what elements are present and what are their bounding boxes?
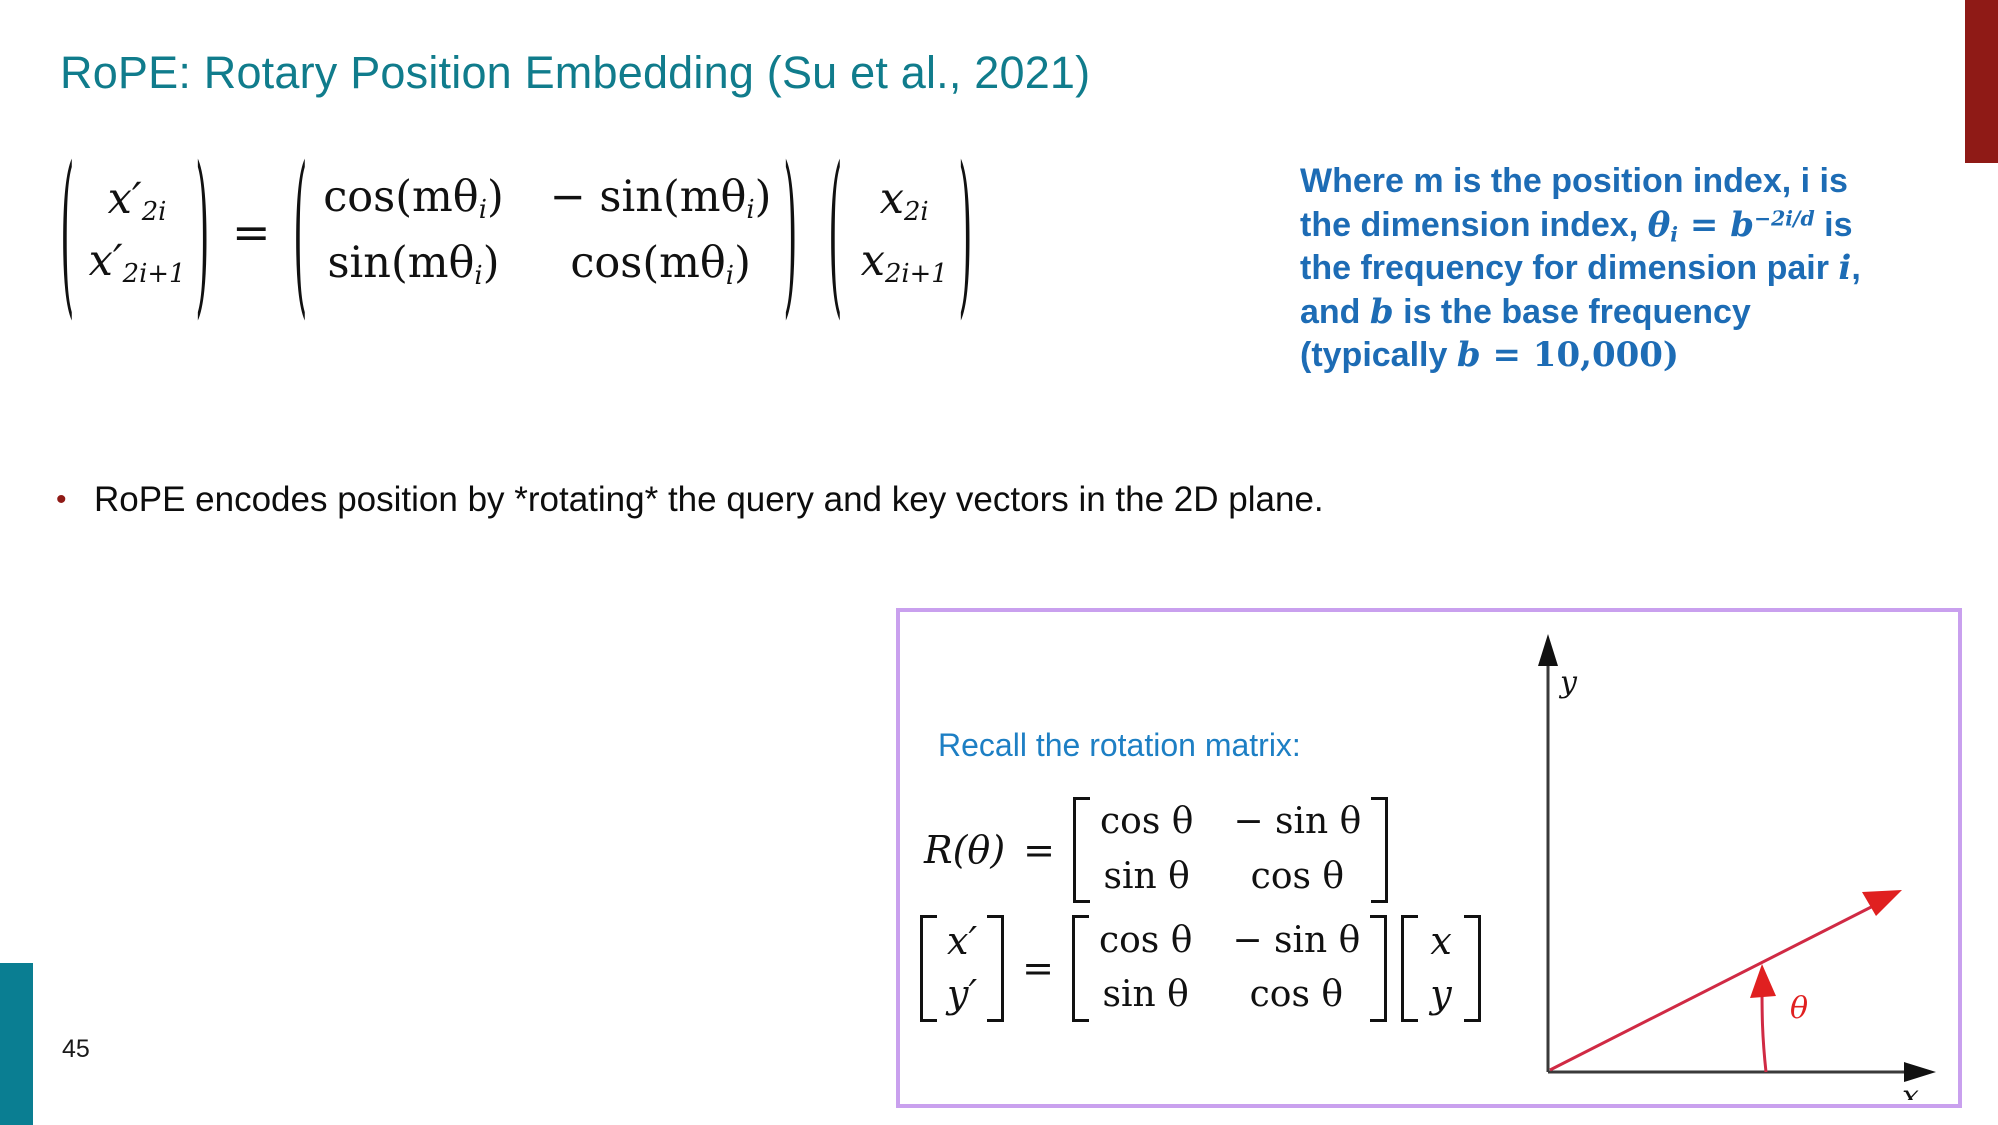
accent-bar-top-right [1965,0,1998,163]
theta-symbol: θ [1648,205,1671,245]
rhs2-row-2: y [1430,968,1451,1021]
rotated-vector-arrowhead-icon [1862,890,1902,916]
bullet-label: RoPE encodes position by *rotating* the … [94,478,1324,522]
matrix-cell-r2c1: sin(mθi) [327,234,499,296]
paren-open-lhs: ( [60,143,74,320]
equals-sign-2: = [1004,946,1072,990]
recall-box-label: Recall the rotation matrix: [938,727,1301,764]
r2-cell-r2c1: sin θ [1103,970,1189,1021]
r-cell-r2c2: cos θ [1251,852,1344,903]
lhs-row-2: x′2i+1 [89,232,186,294]
theta-arc [1762,986,1766,1072]
r-cell-r1c2: − sin θ [1233,797,1361,848]
note-line-1: Where m is the position index, i is [1300,160,1960,204]
accent-bar-bottom-left [0,963,33,1125]
r2-cell-r2c2: cos θ [1250,970,1343,1021]
y-axis-label: y [1558,665,1578,700]
rope-main-equation: ( x′2i x′2i+1 ) = ( cos(mθi) − sin(mθi) … [56,168,976,296]
paren-close-rhs: ) [958,143,972,320]
equals-sign: = [214,205,289,259]
rhs-row-2: x2i+1 [861,232,948,294]
page-title: RoPE: Rotary Position Embedding (Su et a… [60,47,1090,99]
lhs2-row-2: y′ [947,968,977,1021]
matrix-cell-r2c2: cos(mθi) [570,234,751,296]
bracket-close-matrix2 [1370,915,1387,1022]
lhs2-row-1: x′ [947,915,977,968]
lhs-vector-2: x′ y′ [947,915,977,1022]
rhs-vector: x2i x2i+1 [861,170,948,294]
r-matrix: cos θ − sin θ sin θ cos θ [1100,797,1361,903]
rotation-applied-equation: x′ y′ = cos θ − sin θ sin θ cos θ x y [920,915,1481,1022]
rotation-matrix-definition: R(θ) = cos θ − sin θ sin θ cos θ [924,797,1388,903]
r-theta-label: R(θ) [924,828,1005,872]
bullet-item: • RoPE encodes position by *rotating* th… [56,478,1324,522]
recall-rotation-matrix-box: Recall the rotation matrix: R(θ) = cos θ… [896,608,1962,1108]
note-line-5: (typically b = 10,000) [1300,334,1960,378]
matrix-cell-r1c1: cos(mθi) [323,168,504,230]
matrix-cell-r1c2: − sin(mθi) [550,168,772,230]
paren-close-lhs: ) [196,143,210,320]
paren-close-matrix: ) [784,143,798,320]
bracket-open-r [1073,797,1090,903]
lhs-vector: x′2i x′2i+1 [89,170,186,294]
theta-arc-arrowhead-icon [1750,964,1776,998]
r2-cell-r1c1: cos θ [1099,916,1192,967]
slide-number: 45 [62,1035,90,1064]
y-axis-arrowhead-icon [1538,634,1558,666]
rhs2-row-1: x [1430,915,1451,968]
paren-open-matrix: ( [293,143,307,320]
rhs-vector-2: x y [1430,915,1451,1022]
theta-angle-label: θ [1790,991,1808,1026]
lhs-row-1: x′2i [89,170,186,232]
bracket-close-rhs2 [1464,915,1481,1022]
rotation-diagram: y x θ [1490,620,1950,1100]
rotation-matrix: cos(mθi) − sin(mθi) sin(mθi) cos(mθi) [323,168,771,296]
rhs-row-1: x2i [861,170,948,232]
r-cell-r2c1: sin θ [1104,852,1190,903]
note-line-4: and b is the base frequency [1300,291,1960,335]
note-line-3: the frequency for dimension pair i, [1300,247,1960,291]
rotated-vector-line [1550,900,1885,1070]
bracket-open-matrix2 [1072,915,1089,1022]
bracket-open-lhs2 [920,915,937,1022]
note-line-2: the dimension index, θi = b−2i/d is [1300,204,1960,248]
r-matrix-2: cos θ − sin θ sin θ cos θ [1099,916,1360,1022]
equals-sign-r: = [1005,828,1073,872]
r-cell-r1c1: cos θ [1100,797,1193,848]
paren-open-rhs: ( [828,143,842,320]
bracket-close-lhs2 [987,915,1004,1022]
bullet-marker-icon: • [56,478,94,522]
x-axis-label: x [1902,1079,1919,1100]
bracket-close-r [1371,797,1388,903]
r2-cell-r1c2: − sin θ [1232,916,1360,967]
bracket-open-rhs2 [1401,915,1418,1022]
note-text-block: Where m is the position index, i is the … [1300,160,1960,378]
